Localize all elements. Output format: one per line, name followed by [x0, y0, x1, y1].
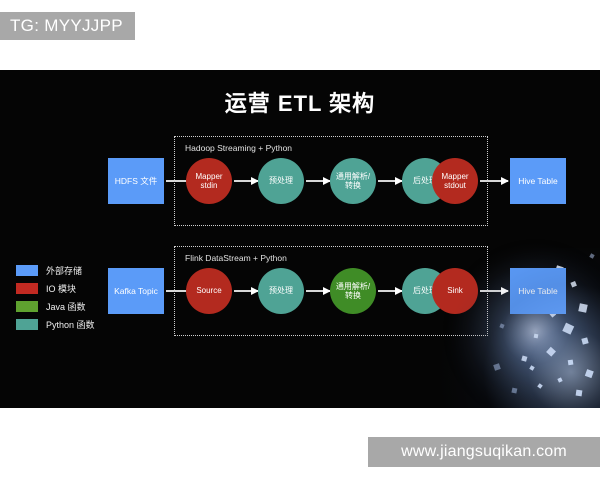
arrow [234, 290, 258, 292]
arrow [480, 290, 508, 292]
node-preprocess[interactable]: 预处理 [258, 158, 304, 204]
arrow [378, 290, 402, 292]
pipeline-sink-hive-table[interactable]: Hive Table [510, 158, 566, 204]
arrow [378, 180, 402, 182]
node-parse-transform[interactable]: 通用解析/转换 [330, 158, 376, 204]
node-sink[interactable]: Sink [432, 268, 478, 314]
node-preprocess[interactable]: 预处理 [258, 268, 304, 314]
page-title: 运营 ETL 架构 [0, 86, 600, 118]
pipeline-group-label: Hadoop Streaming + Python [185, 143, 292, 153]
pipeline-row-flink: Kafka Topic Flink DataStream + Python So… [0, 246, 600, 336]
site-watermark-label: www.jiangsuqikan.com [401, 443, 567, 461]
node-mapper-stdin[interactable]: Mapper stdin [186, 158, 232, 204]
arrow [234, 180, 258, 182]
pipeline-source-hdfs[interactable]: HDFS 文件 [108, 158, 164, 204]
pipeline-sink-hive-table[interactable]: Hive Table [510, 268, 566, 314]
pipeline-source-kafka-topic[interactable]: Kafka Topic [108, 268, 164, 314]
node-parse-transform[interactable]: 通用解析/转换 [330, 268, 376, 314]
node-mapper-stdout[interactable]: Mapper stdout [432, 158, 478, 204]
pipeline-row-hadoop: HDFS 文件 Hadoop Streaming + Python Mapper… [0, 136, 600, 226]
arrow [306, 180, 330, 182]
arrow [480, 180, 508, 182]
presentation-slide: 运营 ETL 架构 外部存储 IO 模块 Java 函数 Python 函数 H… [0, 70, 600, 408]
site-watermark: www.jiangsuqikan.com [368, 437, 600, 467]
telegram-watermark: TG: MYYJJPP [0, 12, 135, 40]
arrow [306, 290, 330, 292]
pipeline-group-label: Flink DataStream + Python [185, 253, 287, 263]
telegram-watermark-label: TG: MYYJJPP [10, 16, 123, 36]
node-source[interactable]: Source [186, 268, 232, 314]
